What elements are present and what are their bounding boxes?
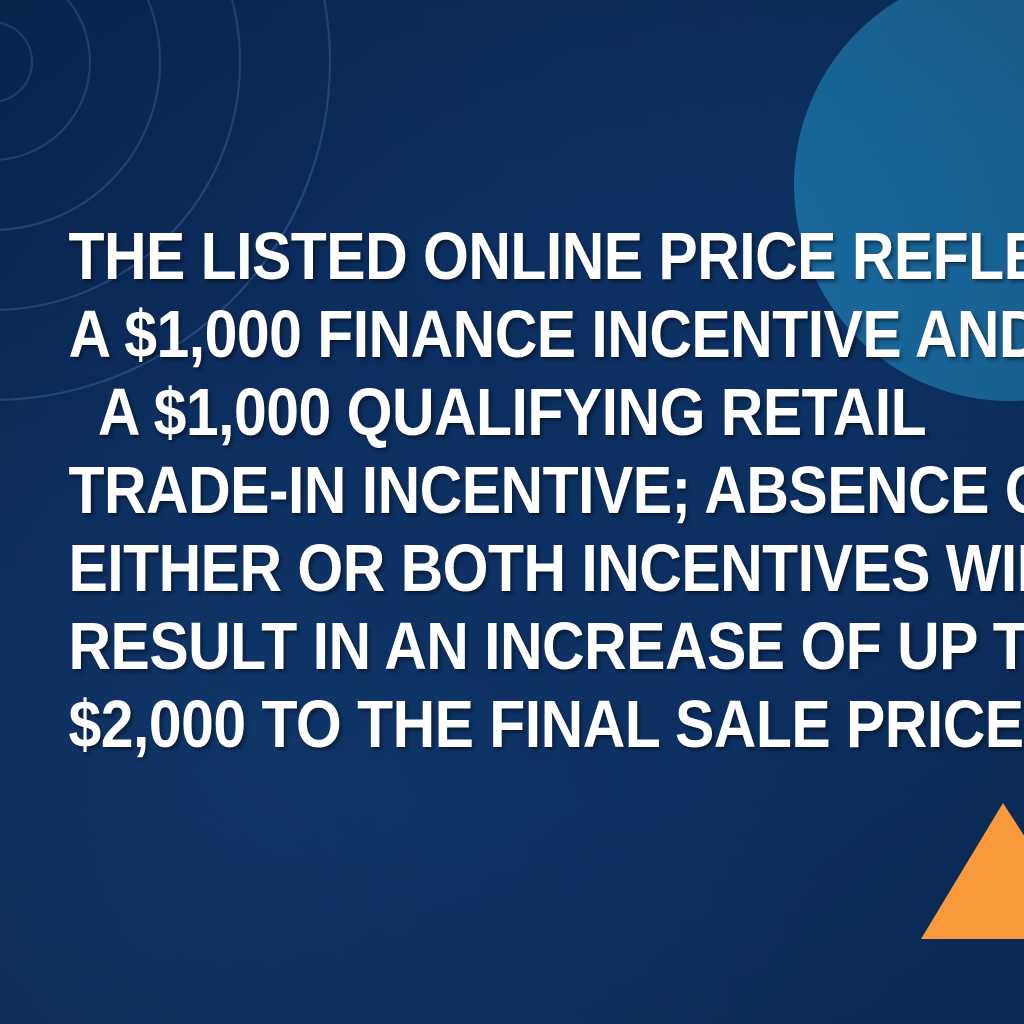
headline-line-1: THE LISTED ONLINE PRICE REFLECTS [68, 218, 955, 296]
headline-line-4: TRADE-IN INCENTIVE; ABSENCE OF [68, 452, 955, 530]
headline-block: THE LISTED ONLINE PRICE REFLECTS A $1,00… [0, 218, 1024, 764]
headline-line-5: EITHER OR BOTH INCENTIVES WILL [68, 530, 955, 608]
headline-line-7: $2,000 TO THE FINAL SALE PRICE. [68, 686, 955, 764]
accent-triangle-icon [921, 800, 1024, 939]
headline-line-3: A $1,000 QUALIFYING RETAIL [68, 374, 955, 452]
headline-line-6: RESULT IN AN INCREASE OF UP TO [68, 608, 955, 686]
headline-line-2: A $1,000 FINANCE INCENTIVE AND [68, 296, 955, 374]
disclaimer-graphic: THE LISTED ONLINE PRICE REFLECTS A $1,00… [0, 0, 1024, 1024]
